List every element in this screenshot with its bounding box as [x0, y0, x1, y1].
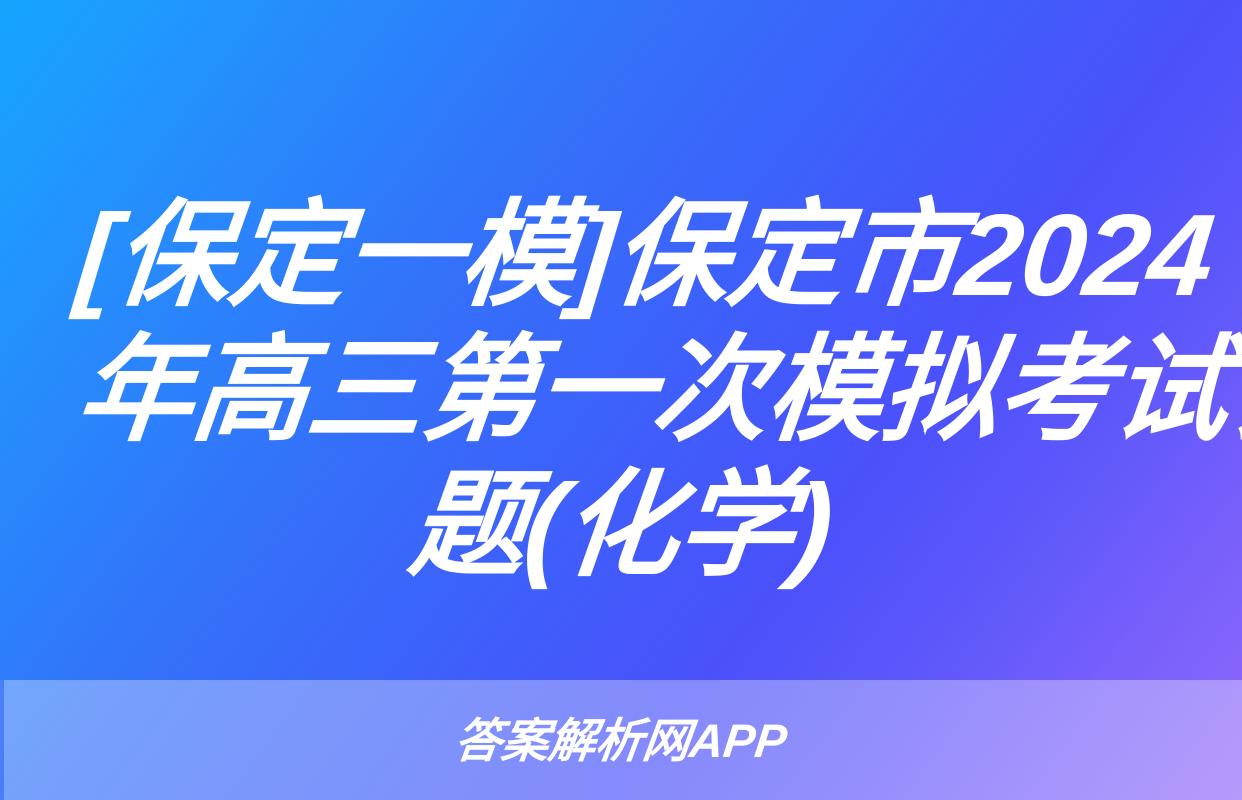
title-line-3: 题(化学) [71, 458, 1171, 593]
title-line-1: [保定一模]保定市2024 [71, 188, 1171, 323]
watermark-band: 答案解析网APP [0, 680, 1242, 800]
watermark-text: 答案解析网APP [452, 717, 789, 764]
poster-canvas: [保定一模]保定市2024 年高三第一次模拟考试试 题(化学) 答案解析网APP [0, 0, 1242, 800]
page-title: [保定一模]保定市2024 年高三第一次模拟考试试 题(化学) [0, 188, 1242, 593]
title-line-2: 年高三第一次模拟考试试 [71, 323, 1171, 458]
band-left-edge-strip [0, 680, 4, 800]
